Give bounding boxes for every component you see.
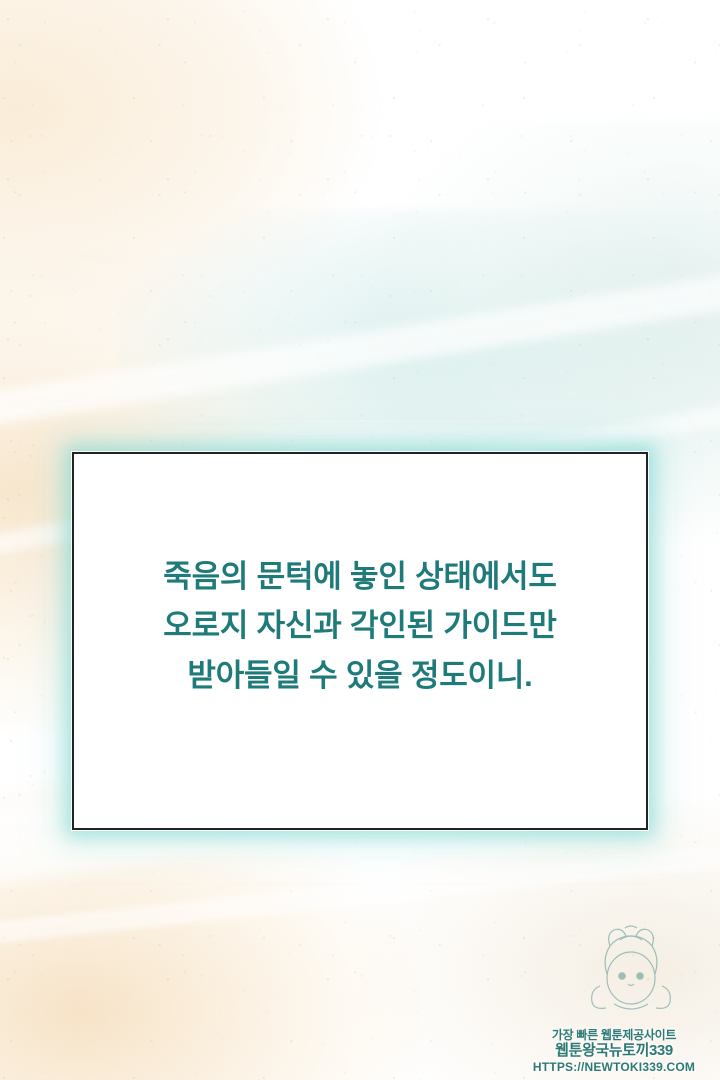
watermark: 가장 빠른 웹툰제공사이트 웹툰왕국뉴토끼339 HTTPS://NEWTOKI… xyxy=(516,1028,712,1074)
watermark-line-2: 웹툰왕국뉴토끼339 xyxy=(516,1042,712,1060)
watermark-line-1: 가장 빠른 웹툰제공사이트 xyxy=(516,1028,712,1042)
dialogue-text: 죽음의 문턱에 놓인 상태에서도 오로지 자신과 각인된 가이드만 받아들일 수… xyxy=(74,552,646,731)
watermark-mascot-icon xyxy=(576,924,686,1010)
comic-page: 죽음의 문턱에 놓인 상태에서도 오로지 자신과 각인된 가이드만 받아들일 수… xyxy=(0,0,720,1080)
dialogue-panel: 죽음의 문턱에 놓인 상태에서도 오로지 자신과 각인된 가이드만 받아들일 수… xyxy=(72,452,648,830)
warm-wash-top-left xyxy=(0,0,380,360)
watermark-line-3: HTTPS://NEWTOKI339.COM xyxy=(516,1060,712,1074)
light-streak-upper xyxy=(0,252,720,442)
